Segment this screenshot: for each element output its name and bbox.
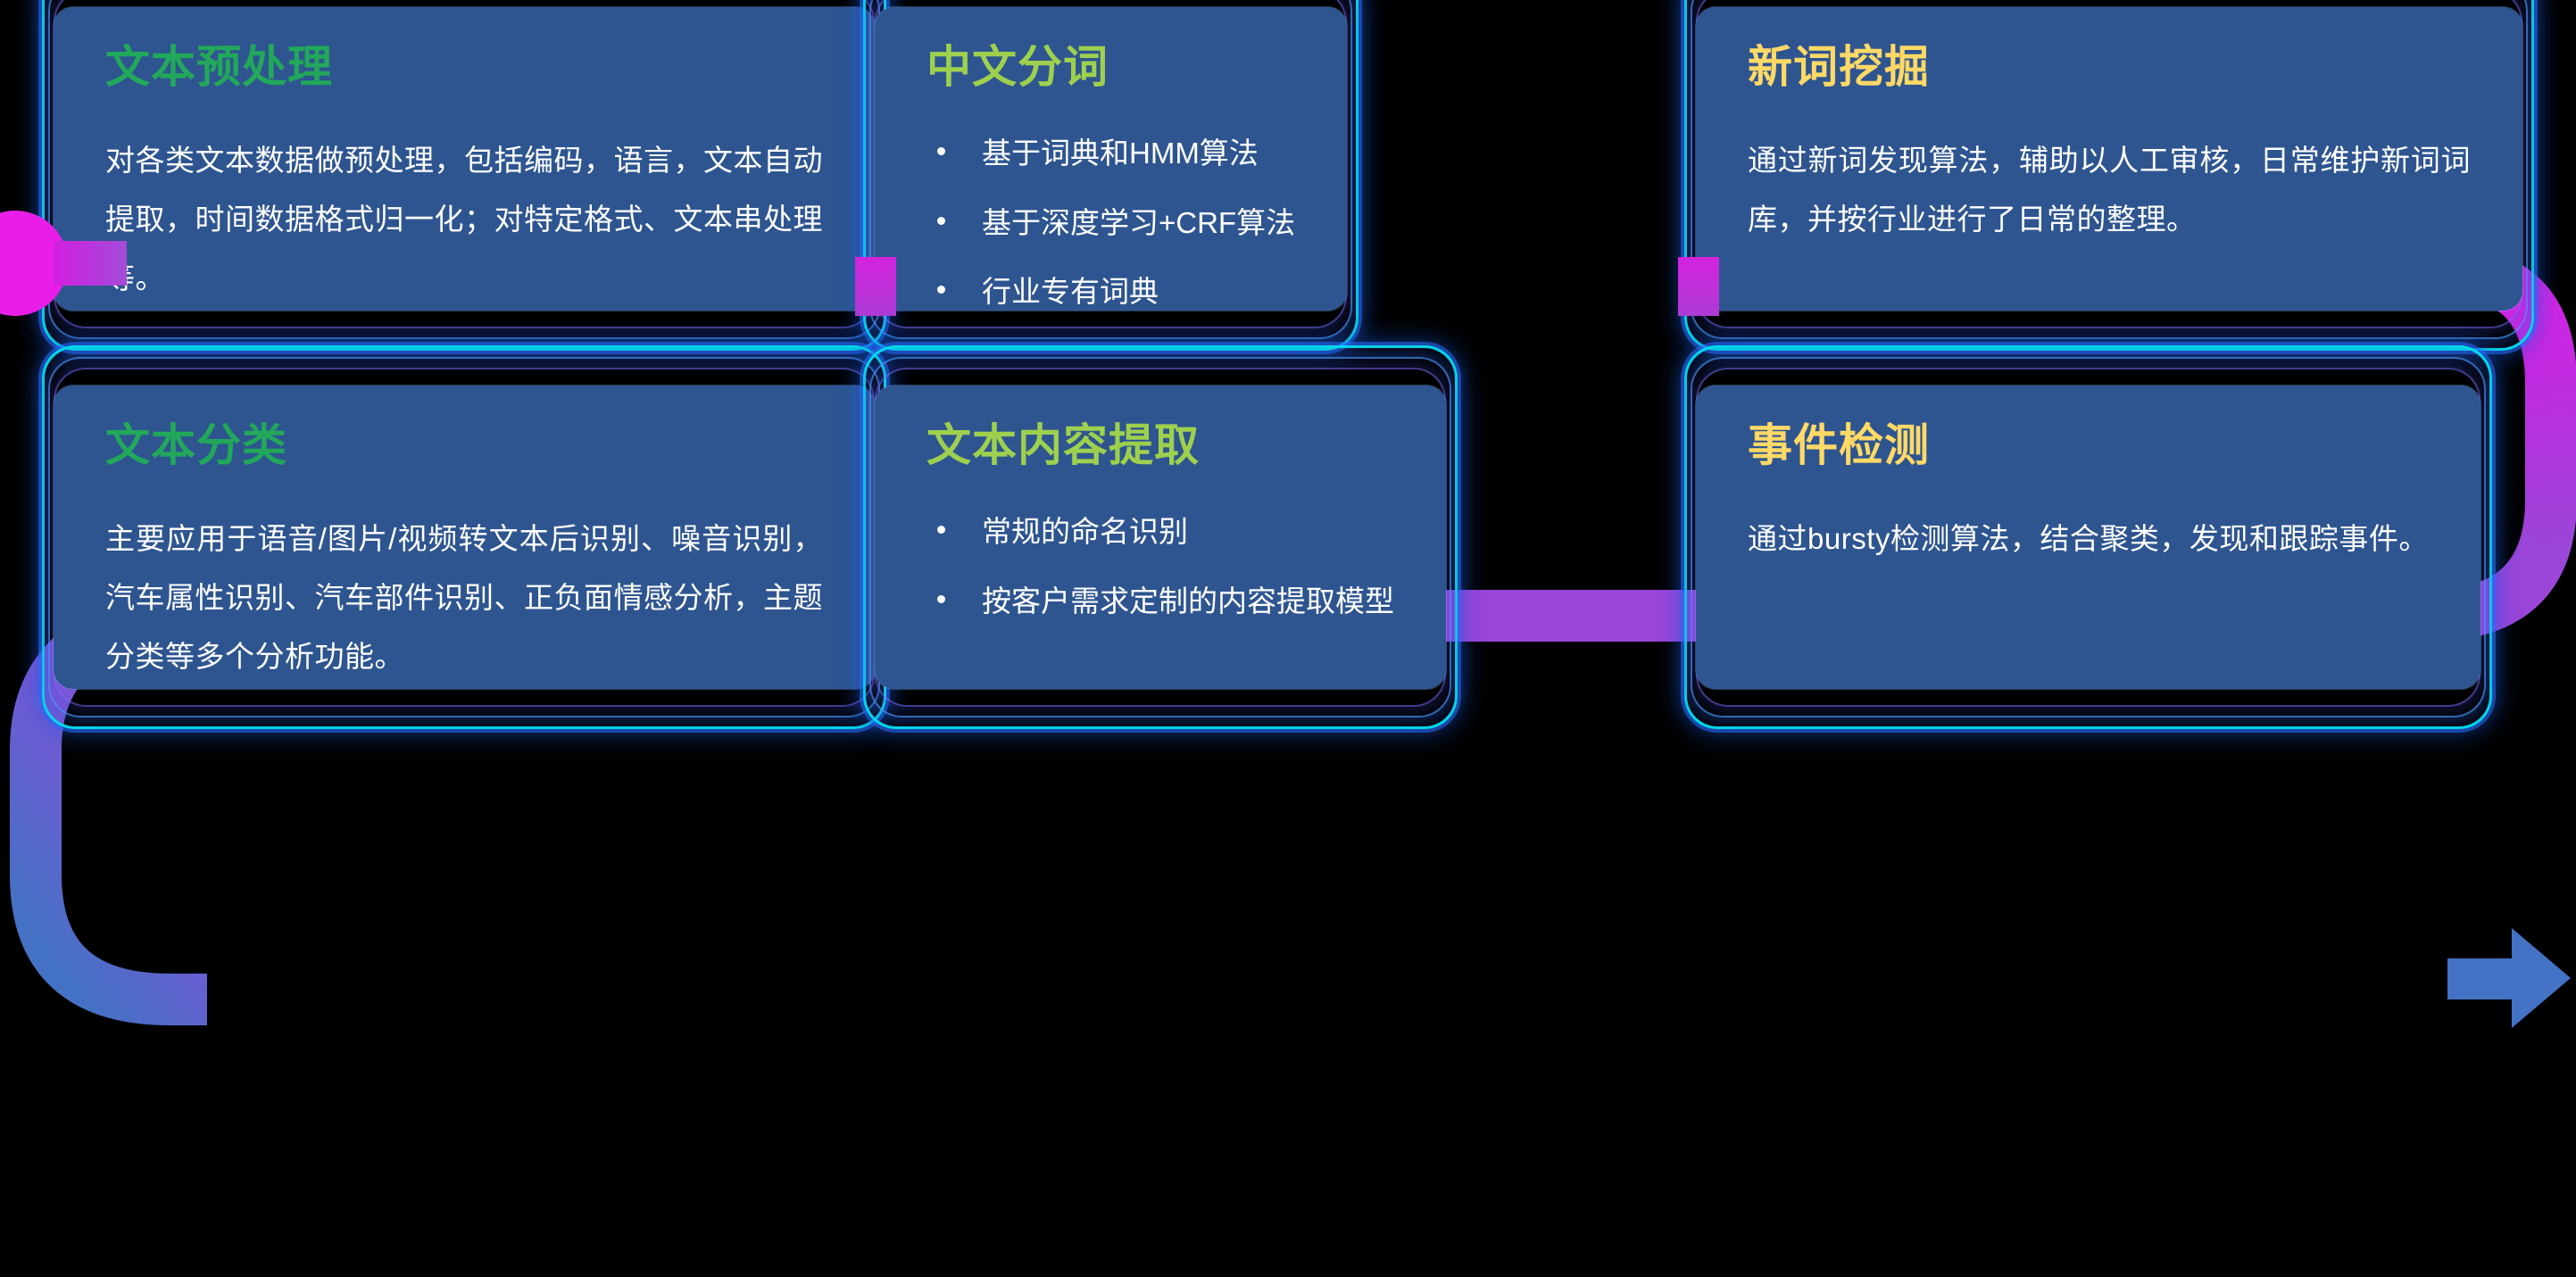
card-text-preprocessing[interactable]: 文本预处理 对各类文本数据做预处理，包括编码，语言，文本自动提取，时间数据格式归… xyxy=(54,7,875,311)
card-chinese-segmentation[interactable]: 中文分词 基于词典和HMM算法 基于深度学习+CRF算法 行业专有词典 xyxy=(875,7,1696,311)
connector-nub-1-2 xyxy=(855,257,896,316)
end-connector-bar xyxy=(2447,958,2517,999)
card-paragraph: 通过新词发现算法，辅助以人工审核，日常维护新词词库，并按行业进行了日常的整理。 xyxy=(1748,131,2471,249)
list-item: 基于深度学习+CRF算法 xyxy=(927,201,1295,245)
card-title: 文本内容提取 xyxy=(927,421,1394,470)
row-1: 文本预处理 对各类文本数据做预处理，包括编码，语言，文本自动提取，时间数据格式归… xyxy=(54,7,2522,311)
list-item: 基于词典和HMM算法 xyxy=(927,131,1295,176)
card-title: 中文分词 xyxy=(927,43,1295,92)
card-paragraph: 主要应用于语音/图片/视频转文本后识别、噪音识别，汽车属性识别、汽车部件识别、正… xyxy=(105,510,823,686)
list-item: 常规的命名识别 xyxy=(927,510,1394,554)
card-paragraph: 对各类文本数据做预处理，包括编码，语言，文本自动提取，时间数据格式归一化；对特定… xyxy=(105,131,823,308)
end-arrow-icon xyxy=(2512,928,2571,1028)
list-item: 行业专有词典 xyxy=(927,269,1295,314)
infographic-canvas: 文本预处理 对各类文本数据做预处理，包括编码，语言，文本自动提取，时间数据格式归… xyxy=(0,0,2576,1277)
card-bullet-list: 常规的命名识别 按客户需求定制的内容提取模型 xyxy=(927,510,1394,623)
card-title: 事件检测 xyxy=(1748,421,2429,470)
card-bullet-list: 基于词典和HMM算法 基于深度学习+CRF算法 行业专有词典 xyxy=(927,131,1295,314)
card-new-word-mining[interactable]: 新词挖掘 通过新词发现算法，辅助以人工审核，日常维护新词词库，并按行业进行了日常… xyxy=(1696,7,2522,311)
card-paragraph: 通过bursty检测算法，结合聚类，发现和跟踪事件。 xyxy=(1748,510,2429,568)
list-item: 按客户需求定制的内容提取模型 xyxy=(927,579,1394,624)
start-connector-bar xyxy=(54,241,127,286)
connector-nub-2-3 xyxy=(1678,257,1719,316)
card-event-detection[interactable]: 事件检测 通过bursty检测算法，结合聚类，发现和跟踪事件。 xyxy=(1696,386,2522,689)
card-title: 文本预处理 xyxy=(105,43,823,92)
card-title: 文本分类 xyxy=(105,421,823,470)
card-text-classification[interactable]: 文本分类 主要应用于语音/图片/视频转文本后识别、噪音识别，汽车属性识别、汽车部… xyxy=(54,386,875,689)
card-content-extraction[interactable]: 文本内容提取 常规的命名识别 按客户需求定制的内容提取模型 xyxy=(875,386,1696,689)
card-title: 新词挖掘 xyxy=(1748,43,2471,92)
row-2: 文本分类 主要应用于语音/图片/视频转文本后识别、噪音识别，汽车属性识别、汽车部… xyxy=(54,386,2522,689)
